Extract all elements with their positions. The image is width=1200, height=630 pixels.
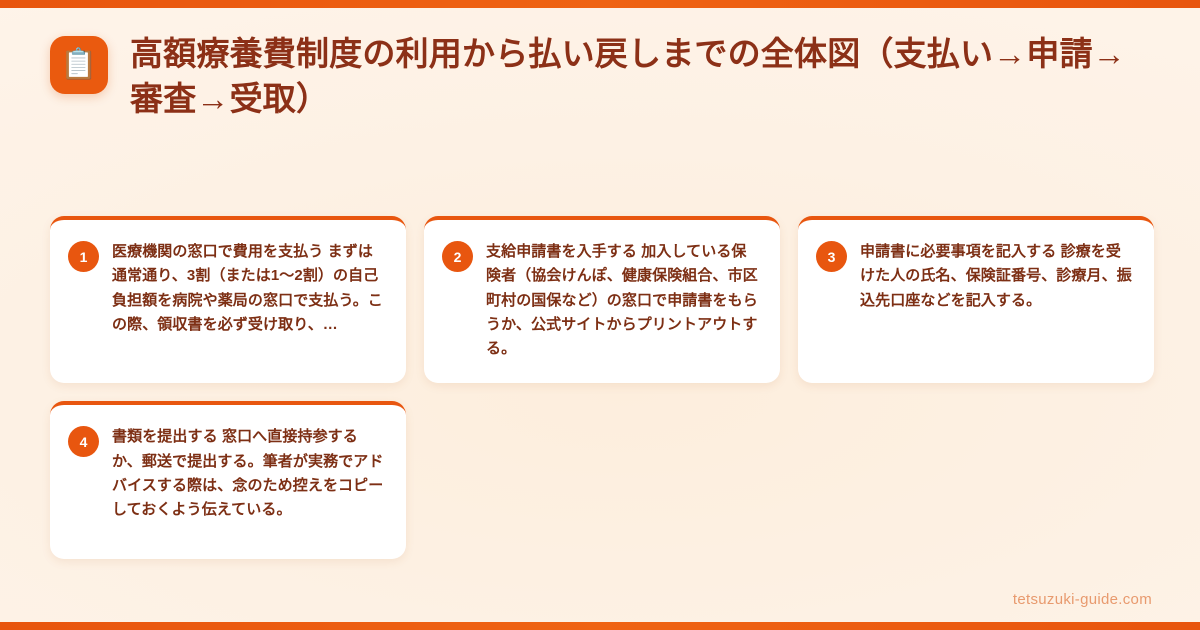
step-card-3: 3 申請書に必要事項を記入する 診療を受けた人の氏名、保険証番号、診療月、振込先… <box>798 216 1154 383</box>
step-number-badge: 1 <box>68 241 99 272</box>
header: 📋 高額療養費制度の利用から払い戻しまでの全体図（支払い→申請→審査→受取） <box>50 30 1152 122</box>
steps-list: 1 医療機関の窓口で費用を支払う まずは通常通り、3割（または1〜2割）の自己負… <box>50 216 1154 559</box>
bottom-accent-bar <box>0 622 1200 630</box>
step-description: 支給申請書を入手する 加入している保険者（協会けんぽ、健康保険組合、市区町村の国… <box>486 240 758 361</box>
infographic-canvas: 📋 高額療養費制度の利用から払い戻しまでの全体図（支払い→申請→審査→受取） 1… <box>0 0 1200 630</box>
step-number-badge: 3 <box>816 241 847 272</box>
step-card-1: 1 医療機関の窓口で費用を支払う まずは通常通り、3割（または1〜2割）の自己負… <box>50 216 406 383</box>
step-card-2: 2 支給申請書を入手する 加入している保険者（協会けんぽ、健康保険組合、市区町村… <box>424 216 780 383</box>
top-accent-bar <box>0 0 1200 8</box>
step-description: 医療機関の窓口で費用を支払う まずは通常通り、3割（または1〜2割）の自己負担額… <box>112 240 384 337</box>
site-watermark: tetsuzuki-guide.com <box>1013 591 1152 608</box>
page-title: 高額療養費制度の利用から払い戻しまでの全体図（支払い→申請→審査→受取） <box>130 30 1152 122</box>
clipboard-icon: 📋 <box>50 36 108 94</box>
step-number-badge: 2 <box>442 241 473 272</box>
clipboard-icon-glyph: 📋 <box>60 50 97 80</box>
step-description: 申請書に必要事項を記入する 診療を受けた人の氏名、保険証番号、診療月、振込先口座… <box>860 240 1132 313</box>
step-description: 書類を提出する 窓口へ直接持参するか、郵送で提出する。筆者が実務でアドバイスする… <box>112 425 384 522</box>
step-number-badge: 4 <box>68 426 99 457</box>
step-card-4: 4 書類を提出する 窓口へ直接持参するか、郵送で提出する。筆者が実務でアドバイス… <box>50 401 406 559</box>
